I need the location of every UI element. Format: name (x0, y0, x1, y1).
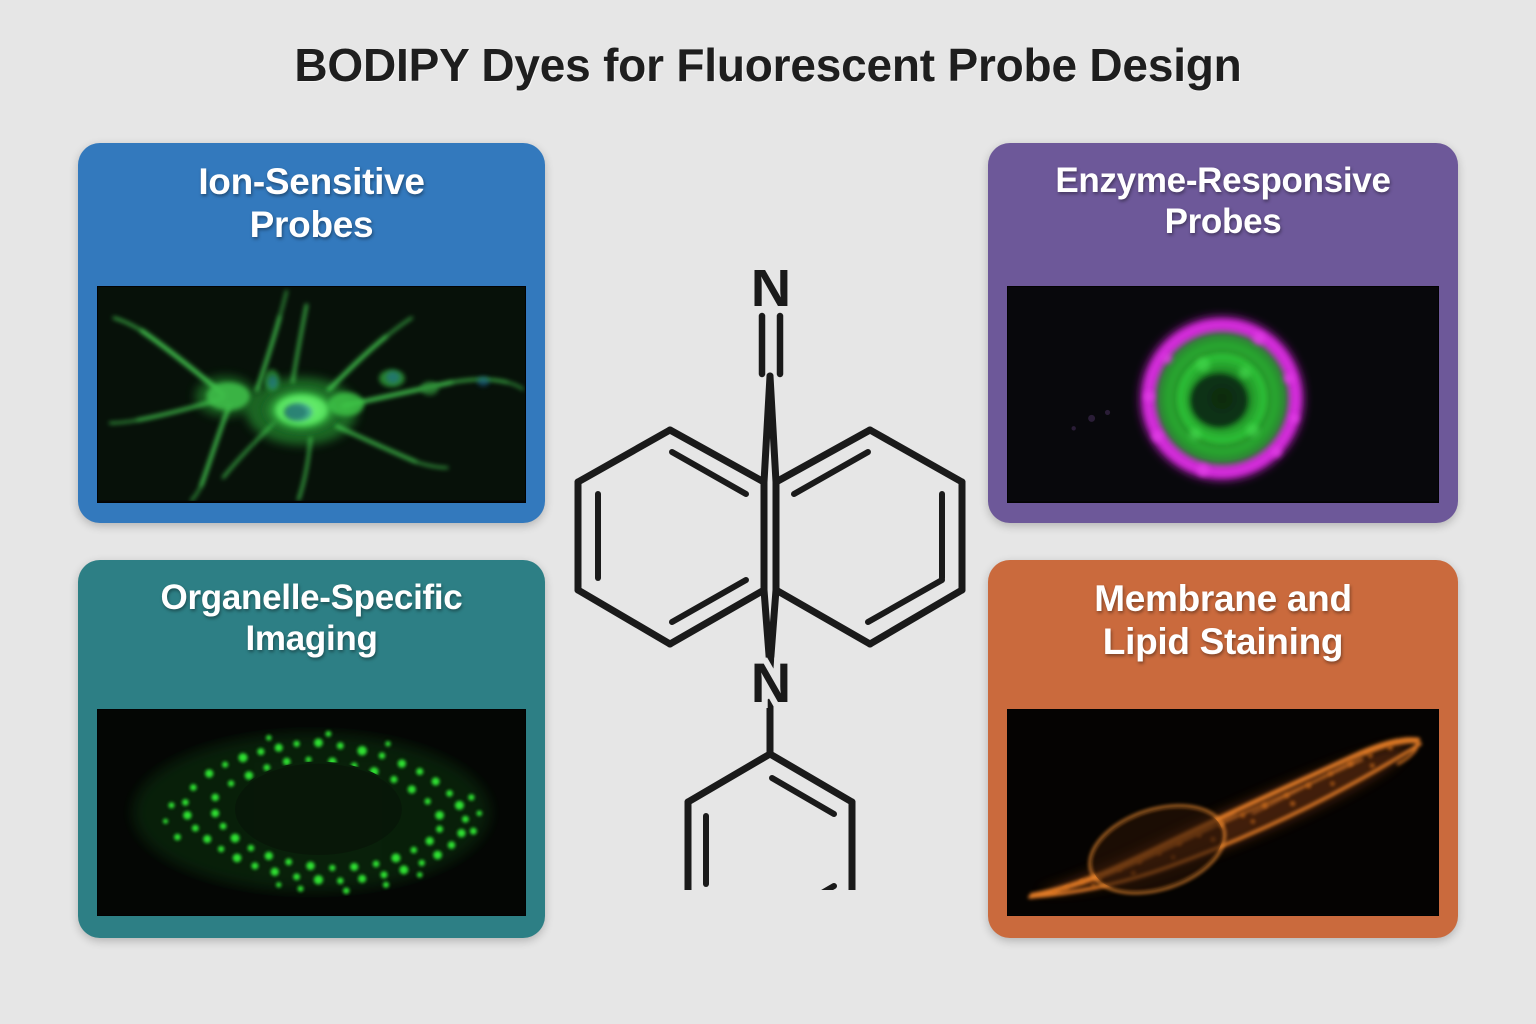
figure-canvas: BODIPY Dyes for Fluorescent Probe Design… (0, 0, 1536, 1024)
panel-title-organelle-specific-imaging: Organelle-Specific Imaging (88, 578, 535, 659)
micrograph-membrane-svg (1008, 710, 1438, 914)
panel-card-ion-sensitive-probes[interactable]: Ion-Sensitive Probes (78, 143, 545, 523)
panel-title-enzyme-responsive-probes: Enzyme-Responsive Probes (998, 161, 1448, 242)
panel-title-line2: Imaging (88, 619, 535, 660)
page-title: BODIPY Dyes for Fluorescent Probe Design (0, 38, 1536, 92)
panel-title-membrane-and-lipid-staining: Membrane and Lipid Staining (998, 578, 1448, 664)
panel-card-membrane-and-lipid-staining[interactable]: Membrane and Lipid Staining (988, 560, 1458, 938)
micrograph-neuron-svg (98, 287, 525, 501)
panel-title-line1: Organelle-Specific (88, 578, 535, 619)
micrograph-neuron-green-fluorescence (97, 286, 526, 503)
chemical-structure-acridine-bodipy: N N BF 2 (540, 270, 1000, 890)
chemical-structure-svg: N N BF 2 (540, 270, 1000, 890)
panel-title-line1: Ion-Sensitive (88, 161, 535, 204)
micrograph-organelle-svg (98, 710, 525, 914)
bond-lines (578, 316, 962, 890)
panel-card-organelle-specific-imaging[interactable]: Organelle-Specific Imaging (78, 560, 545, 938)
atom-label-imine-nitrogen: N (751, 270, 791, 318)
micrograph-cell-magenta-green-ring (1007, 286, 1439, 503)
panel-card-enzyme-responsive-probes[interactable]: Enzyme-Responsive Probes (988, 143, 1458, 523)
atom-label-ring-nitrogen: N (751, 651, 791, 714)
panel-title-line1: Membrane and (998, 578, 1448, 621)
panel-title-line2: Probes (88, 204, 535, 247)
micrograph-spindle-cell-membrane-staining (1007, 709, 1439, 916)
micrograph-punctate-organelle-staining (97, 709, 526, 916)
panel-title-line1: Enzyme-Responsive (998, 161, 1448, 202)
panel-title-line2: Lipid Staining (998, 621, 1448, 664)
micrograph-enzyme-svg (1008, 287, 1438, 501)
panel-title-ion-sensitive-probes: Ion-Sensitive Probes (88, 161, 535, 247)
panel-title-line2: Probes (998, 202, 1448, 243)
